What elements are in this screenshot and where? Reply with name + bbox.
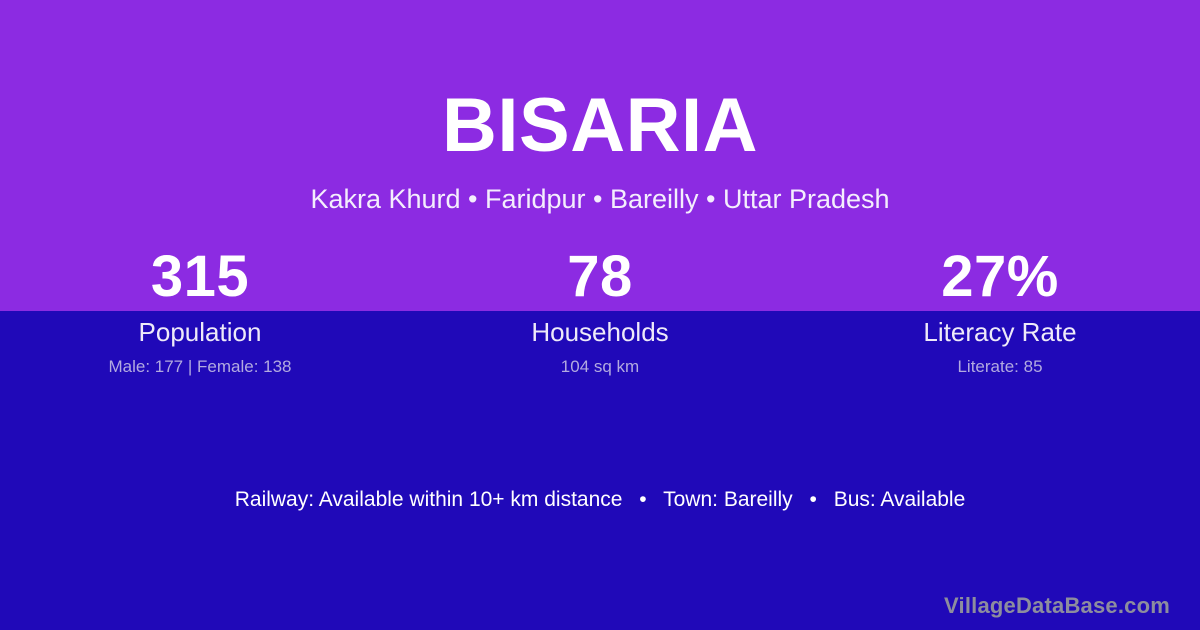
stat-households-sub: 104 sq km	[400, 356, 800, 377]
bullet-separator-icon: •	[628, 486, 657, 514]
breadcrumb: Kakra Khurd • Faridpur • Bareilly • Utta…	[0, 181, 1200, 217]
stat-population-value: 315	[0, 244, 400, 310]
stat-literacy: 27% Literacy Rate Literate: 85	[800, 244, 1200, 377]
stat-population: 315 Population Male: 177 | Female: 138	[0, 244, 400, 377]
bullet-separator-icon: •	[799, 486, 828, 514]
amenities-line: Railway: Available within 10+ km distanc…	[0, 486, 1200, 514]
page-title: BISARIA	[0, 86, 1200, 166]
site-brand: VillageDataBase.com	[944, 592, 1170, 620]
town-info: Town: Bareilly	[663, 488, 793, 511]
stat-households-value: 78	[400, 244, 800, 310]
stat-households: 78 Households 104 sq km	[400, 244, 800, 377]
stat-literacy-sub: Literate: 85	[800, 356, 1200, 377]
village-info-card: BISARIA Kakra Khurd • Faridpur • Bareill…	[0, 0, 1200, 630]
stat-literacy-label: Literacy Rate	[800, 317, 1200, 348]
stat-households-label: Households	[400, 317, 800, 348]
stat-population-sub: Male: 177 | Female: 138	[0, 356, 400, 377]
railway-info: Railway: Available within 10+ km distanc…	[235, 488, 623, 511]
bus-info: Bus: Available	[834, 488, 966, 511]
stat-population-label: Population	[0, 317, 400, 348]
stat-literacy-value: 27%	[800, 244, 1200, 310]
stats-row: 315 Population Male: 177 | Female: 138 7…	[0, 244, 1200, 377]
